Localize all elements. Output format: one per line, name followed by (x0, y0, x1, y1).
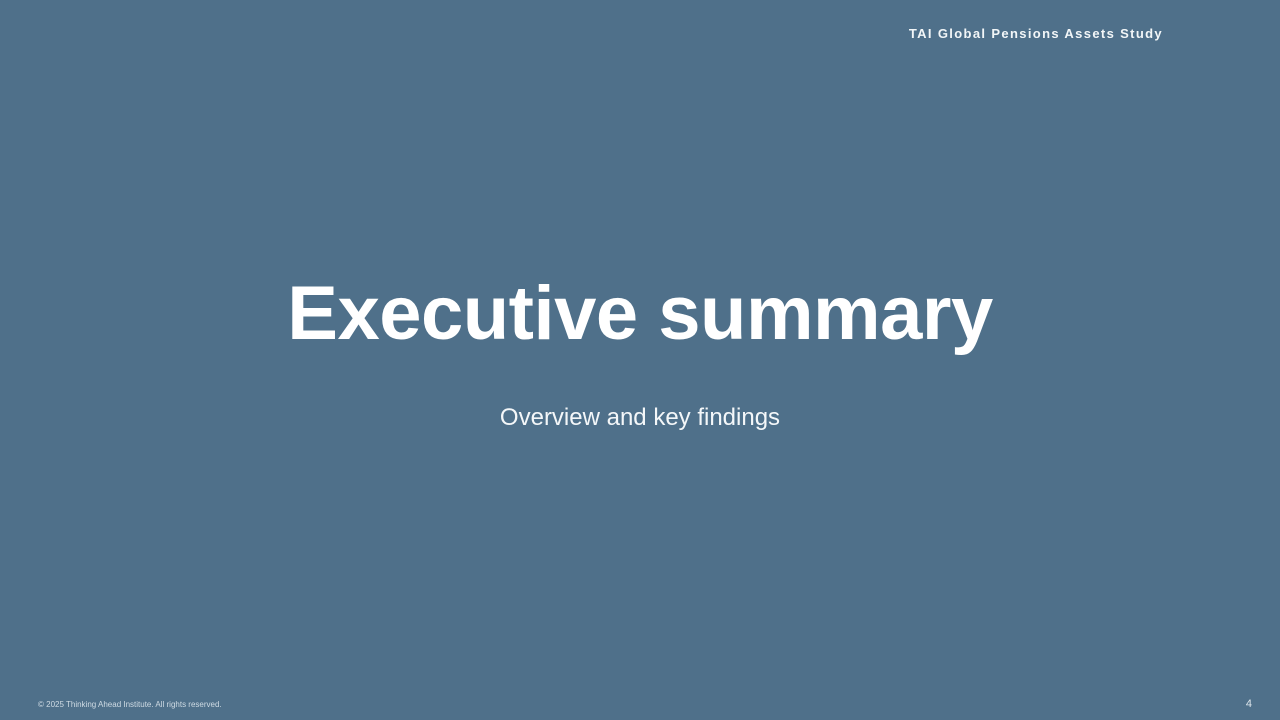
page-title: Executive summary (0, 268, 1280, 360)
title-block: Executive summary Overview and key findi… (0, 268, 1280, 433)
footer-page-number: 4 (1246, 698, 1252, 711)
running-header-title: TAI Global Pensions Assets Study (909, 26, 1163, 42)
page-subtitle: Overview and key findings (0, 360, 1280, 433)
footer-copyright: © 2025 Thinking Ahead Institute. All rig… (38, 700, 222, 710)
slide-canvas: TAI Global Pensions Assets Study Executi… (0, 0, 1280, 720)
